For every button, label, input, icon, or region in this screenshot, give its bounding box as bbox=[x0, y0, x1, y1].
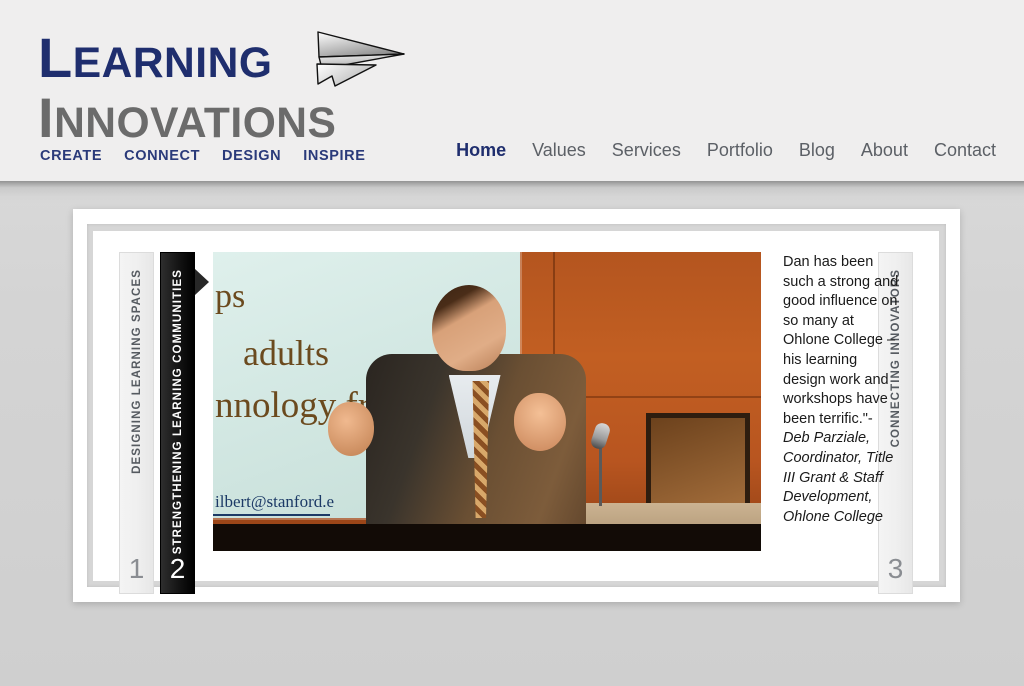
photo-monitor-screen bbox=[651, 418, 745, 504]
header-drop-shadow bbox=[0, 181, 1024, 203]
photo-monitor bbox=[646, 413, 750, 509]
logo-text-innovations: INNOVATIONS bbox=[38, 90, 336, 146]
slider-tab-1-number: 1 bbox=[129, 555, 145, 583]
logo-text-learning: LEARNING bbox=[38, 30, 272, 86]
logo-innovations-rest: NNOVATIONS bbox=[54, 99, 336, 147]
tagline-word-inspire: INSPIRE bbox=[303, 148, 365, 164]
nav-item-services[interactable]: Services bbox=[612, 140, 681, 161]
content-frame: DESIGNING LEARNING SPACES 1 STRENGTHENIN… bbox=[73, 209, 960, 602]
testimonial-block: Dan has been such a strong and good infl… bbox=[783, 253, 901, 527]
nav-item-contact[interactable]: Contact bbox=[934, 140, 996, 161]
slider-tab-1-inner: DESIGNING LEARNING SPACES 1 bbox=[119, 252, 154, 594]
slide-photo: ps adults nnology from ilbert@stanford.e bbox=[213, 252, 761, 551]
site-header: LEARNING INNOVATIONS bbox=[0, 0, 1024, 181]
photo-microphone-stem bbox=[599, 440, 602, 506]
photo-floor bbox=[213, 524, 761, 551]
tagline-word-connect: CONNECT bbox=[124, 148, 200, 164]
active-tab-pointer-icon bbox=[195, 269, 209, 295]
nav-item-blog[interactable]: Blog bbox=[799, 140, 835, 161]
slider-tab-2-label: STRENGTHENING LEARNING COMMUNITIES bbox=[172, 269, 184, 554]
testimonial-attribution: Deb Parziale, Coordinator, Title III Gra… bbox=[783, 430, 893, 524]
content-inner-panel: DESIGNING LEARNING SPACES 1 STRENGTHENIN… bbox=[87, 224, 946, 587]
slider-tab-2-number: 2 bbox=[170, 555, 186, 583]
photo-speaker-left-hand bbox=[328, 402, 374, 456]
slider-tab-3-number: 3 bbox=[888, 555, 904, 583]
logo-learning-rest: EARNING bbox=[73, 39, 273, 87]
projected-slide-line-4: ilbert@stanford.e bbox=[215, 492, 334, 512]
main-navigation: Home Values Services Portfolio Blog Abou… bbox=[456, 140, 996, 161]
projected-slide-line-1: ps bbox=[215, 278, 245, 316]
nav-item-portfolio[interactable]: Portfolio bbox=[707, 140, 773, 161]
logo-tagline: CREATECONNECTDESIGNINSPIRE bbox=[40, 148, 365, 164]
nav-item-values[interactable]: Values bbox=[532, 140, 586, 161]
slider-tab-2-inner: STRENGTHENING LEARNING COMMUNITIES 2 bbox=[160, 252, 195, 594]
projected-slide-underline bbox=[213, 514, 330, 516]
tagline-word-create: CREATE bbox=[40, 148, 102, 164]
photo-speaker-head bbox=[432, 285, 506, 371]
slider-tab-1-label: DESIGNING LEARNING SPACES bbox=[131, 269, 143, 474]
nav-item-about[interactable]: About bbox=[861, 140, 908, 161]
photo-speaker-right-hand bbox=[514, 393, 566, 451]
paper-plane-icon bbox=[306, 24, 416, 94]
slider-tab-1[interactable]: DESIGNING LEARNING SPACES 1 bbox=[119, 252, 154, 594]
slider-stage: DESIGNING LEARNING SPACES 1 STRENGTHENIN… bbox=[93, 231, 939, 581]
logo-innovations-initial: I bbox=[38, 86, 54, 149]
testimonial-quote-text: Dan has been such a strong and good infl… bbox=[783, 254, 898, 427]
slider-tab-2[interactable]: STRENGTHENING LEARNING COMMUNITIES 2 bbox=[160, 252, 195, 594]
tagline-word-design: DESIGN bbox=[222, 148, 281, 164]
projected-slide-line-2: adults bbox=[243, 332, 329, 374]
logo-learning-initial: L bbox=[38, 26, 73, 89]
nav-item-home[interactable]: Home bbox=[456, 140, 506, 161]
